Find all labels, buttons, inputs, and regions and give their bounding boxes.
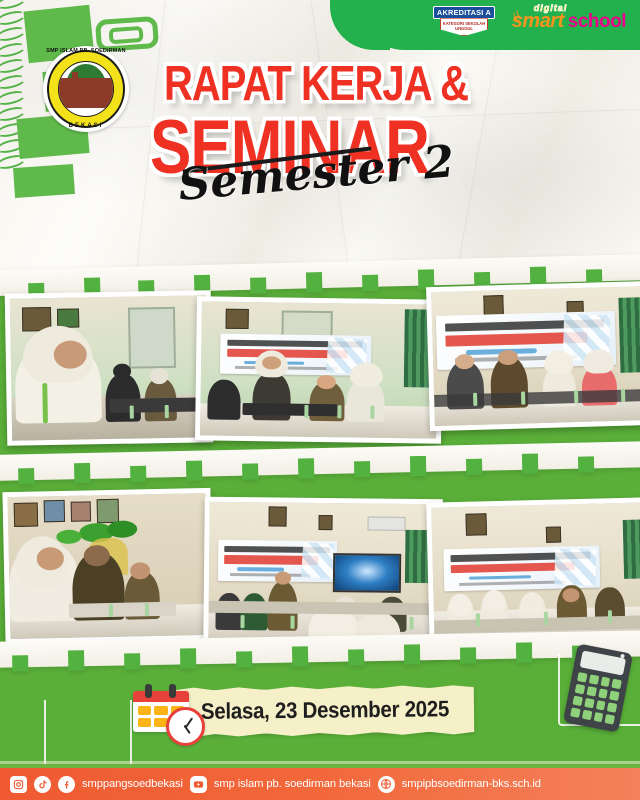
photo-speaker-batik	[195, 296, 443, 443]
torn-paper-strip-2	[0, 441, 640, 481]
youtube-icon[interactable]	[190, 776, 207, 793]
website-icon[interactable]	[378, 776, 395, 793]
school-logo-bottom-text: BEKASI	[43, 123, 129, 129]
dss-digital-text: digital	[534, 4, 626, 13]
accreditation-bottom-label: KATEGORI SEKOLAH UNGGUL	[440, 18, 488, 36]
digital-smart-school-logo: (( digital smart school	[512, 4, 626, 31]
footer-bar: smppangsoedbekasi smp islam pb. soedirma…	[0, 768, 640, 800]
photo-room-projector	[203, 497, 443, 655]
photo-student-foreground	[5, 290, 214, 446]
facebook-icon[interactable]	[58, 776, 75, 793]
photo-teacher-presenting	[2, 488, 213, 644]
date-banner: Selasa, 23 Desember 2025	[176, 687, 474, 734]
green-shape-4	[13, 164, 75, 198]
tiktok-icon[interactable]	[34, 776, 51, 793]
dss-school-text: school	[568, 12, 626, 31]
accreditation-top-label: AKREDITASI A	[433, 6, 495, 19]
website-url: smpipbsoedirman-bks.sch.id	[402, 778, 541, 790]
clock-icon	[166, 707, 205, 746]
school-logo-top-text: SMP ISLAM PB. SOEDIRMAN	[43, 48, 129, 54]
poster-root: AKREDITASI A KATEGORI SEKOLAH UNGGUL (( …	[0, 0, 640, 800]
school-logo: SMP ISLAM PB. SOEDIRMAN BEKASI	[43, 46, 129, 132]
instagram-handle: smppangsoedbekasi	[82, 778, 183, 790]
youtube-handle: smp islam pb. soedirman bekasi	[214, 778, 371, 790]
date-text: Selasa, 23 Desember 2025	[176, 685, 474, 737]
photo-audience-wide	[426, 497, 640, 652]
instagram-icon[interactable]	[10, 776, 27, 793]
photo-panel-banner	[426, 281, 640, 431]
accreditation-badge: AKREDITASI A KATEGORI SEKOLAH UNGGUL	[433, 6, 495, 40]
title-line-1: RAPAT KERJA &	[164, 62, 630, 107]
